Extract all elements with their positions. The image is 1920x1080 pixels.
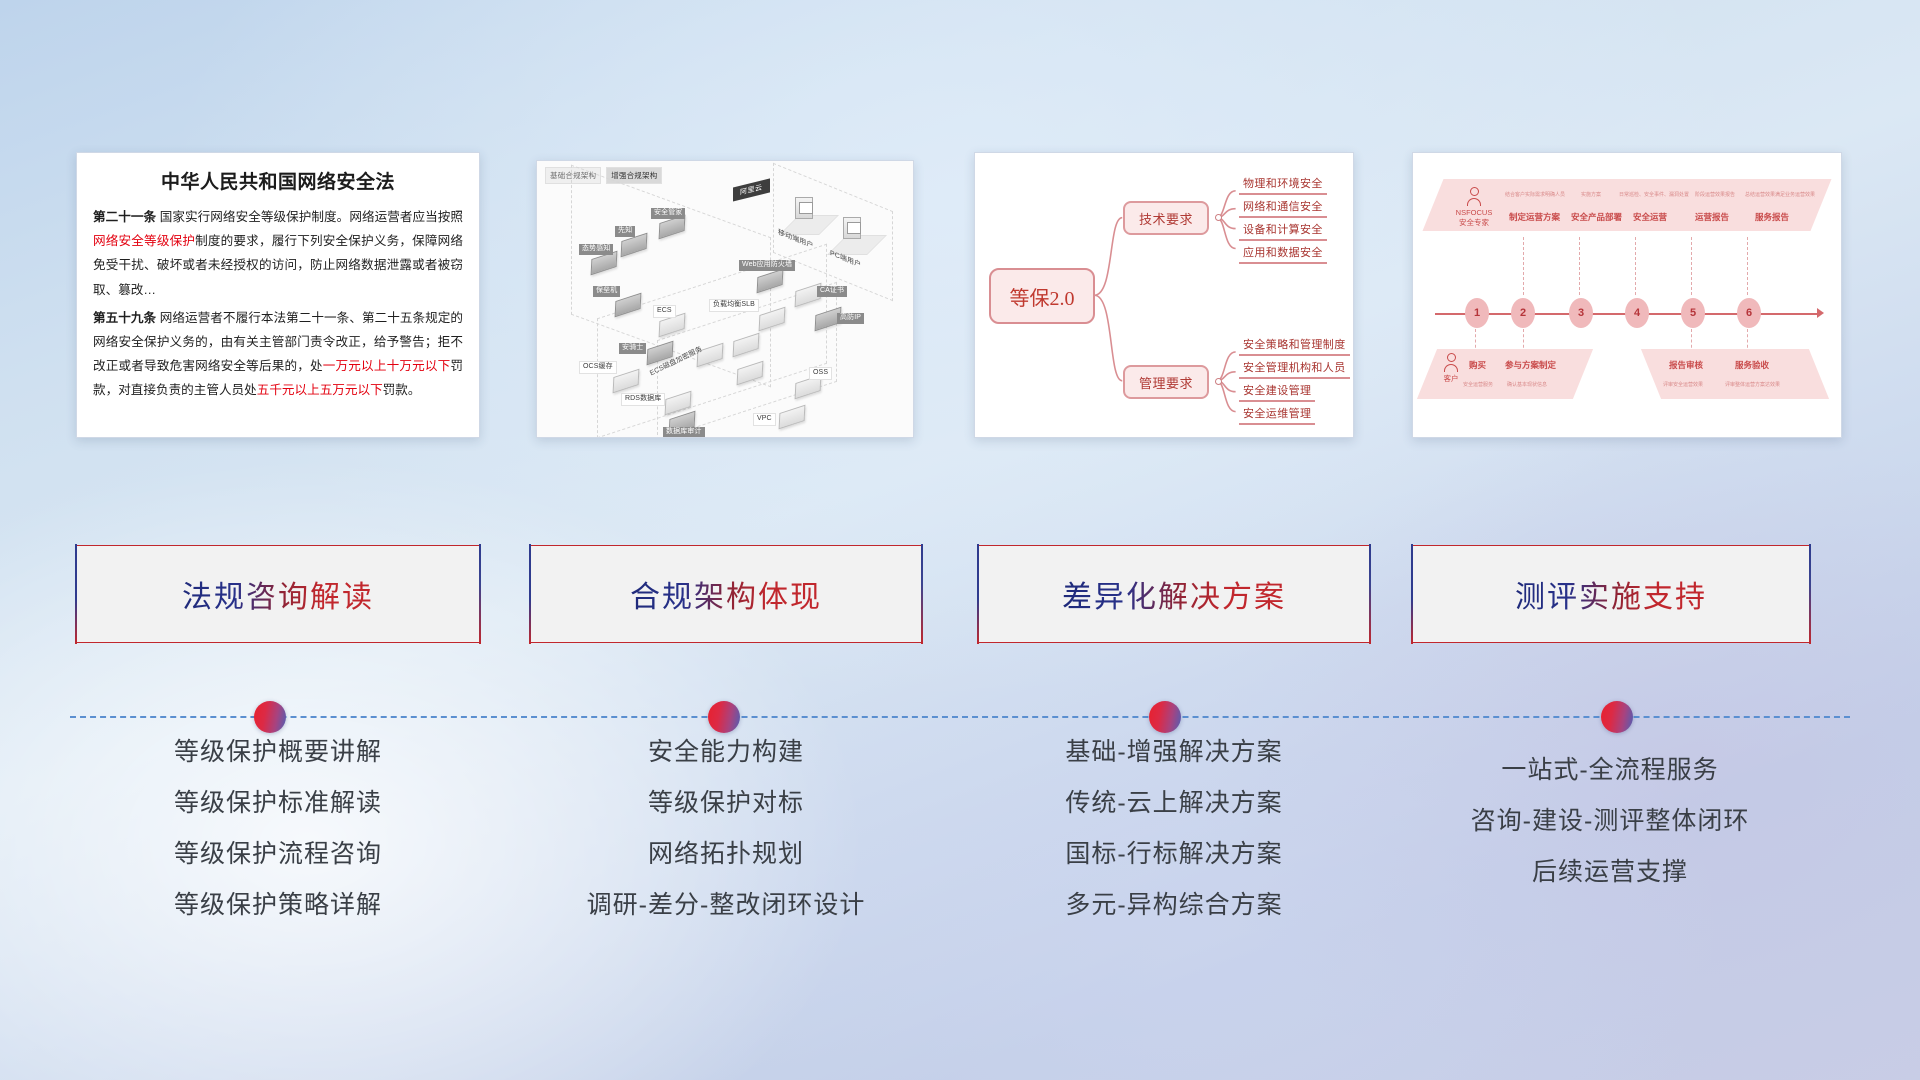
list-item: 等级保护对标 [520,791,932,816]
slide-canvas: 中华人民共和国网络安全法 第二十一条 国家实行网络安全等级保护制度。网络运营者应… [0,0,1920,1080]
feature-list-row: 等级保护概要讲解 等级保护标准解读 等级保护流程咨询 等级保护策略详解 安全能力… [0,740,1920,1000]
feature-list-column-4: 一站式-全流程服务 咨询-建设-测评整体闭环 后续运营支撑 [1400,758,1820,911]
list-item: 等级保护流程咨询 [76,842,480,867]
node-oss: OSS [795,379,821,395]
mindmap-collapse-dot-management[interactable] [1215,378,1222,385]
list-item: 安全能力构建 [520,740,932,765]
provider-stage-title: 服务报告 [1755,211,1789,223]
customer-stage-sub: 评审整体运营方案达效果 [1725,381,1780,388]
provider-stage-title: 制定运营方案 [1509,211,1560,223]
node-label: OSS [809,367,832,380]
screenshot-card-row: 中华人民共和国网络安全法 第二十一条 国家实行网络安全等级保护制度。网络运营者应… [0,150,1920,440]
node-slb: 负载均衡SLB [759,311,785,327]
node-ca-certificate: CA证书 [795,287,821,303]
node-label: 先知 [615,226,635,237]
mindmap-collapse-dot-technical[interactable] [1215,214,1222,221]
node-label: 负载均衡SLB [709,299,759,312]
list-item: 调研-差分-整改闭环设计 [520,893,932,918]
law-text-highlight: 一万元以上十万元以下 [323,359,451,373]
timeline-node-3[interactable] [1149,701,1181,733]
node-vpc: VPC [779,409,805,425]
connector-dash [1523,237,1524,295]
provider-stage-sub: 总结运营效果满足业务运营效果 [1745,191,1815,198]
node-label: 高防IP [837,313,864,324]
section-title-box-1[interactable]: 法规咨询解读 [76,545,480,643]
connector-dash [1747,237,1748,295]
law-title: 中华人民共和国网络安全法 [93,167,463,194]
provider-stage-title: 安全产品部署 [1571,211,1622,223]
mindmap-leaf: 设备和计算安全 [1239,221,1327,241]
timeline-step-marker[interactable]: 5 [1681,298,1705,328]
list-item: 网络拓扑规划 [520,842,932,867]
law-article-number: 第二十一条 [93,210,156,224]
section-title-label: 法规咨询解读 [182,572,374,616]
law-text-highlight: 网络安全等级保护 [93,234,195,248]
section-title-box-2[interactable]: 合规架构体现 [530,545,922,643]
law-paragraph-21: 第二十一条 国家实行网络安全等级保护制度。网络运营者应当按照网络安全等级保护制度… [93,205,463,302]
provider-stage-sub: 阶段运营效果报告 [1695,191,1735,198]
node-chip-icon [779,405,806,430]
mindmap-leaf: 应用和数据安全 [1239,244,1327,264]
list-item: 后续运营支撑 [1400,860,1820,885]
card-cybersecurity-law[interactable]: 中华人民共和国网络安全法 第二十一条 国家实行网络安全等级保护制度。网络运营者应… [76,152,480,438]
customer-stage-title: 报告审核 [1669,359,1703,371]
section-title-label: 测评实施支持 [1515,572,1707,616]
timeline-step-marker[interactable]: 3 [1569,298,1593,328]
mindmap-leaf: 安全运维管理 [1239,405,1315,425]
provider-stage-sub: 结合客户实际需求明确人员 [1505,191,1565,198]
timeline-node-4[interactable] [1601,701,1633,733]
provider-role-badge: NSFOCUS 安全专家 [1451,187,1497,228]
provider-role-label: 安全专家 [1451,218,1497,228]
provider-stage-sub: 日常巡检、安全事件、漏洞处置 [1619,191,1689,198]
timeline-step-marker[interactable]: 4 [1625,298,1649,328]
person-head-icon [1447,353,1456,362]
pc-device-icon [843,217,861,239]
list-item: 咨询-建设-测评整体闭环 [1400,809,1820,834]
timeline-step-marker[interactable]: 6 [1737,298,1761,328]
person-body-icon [1444,364,1458,372]
provider-brand: NSFOCUS [1451,208,1497,218]
mindmap-leaf: 安全建设管理 [1239,382,1315,402]
node-rds-database: RDS数据库 [665,395,691,411]
connector-dash [1691,237,1692,295]
mindmap-leaf: 安全管理机构和人员 [1239,359,1350,379]
node-xianzhi: 先知 [621,237,647,253]
section-title-box-4[interactable]: 测评实施支持 [1412,545,1810,643]
person-head-icon [1470,187,1479,196]
law-article-number: 第五十九条 [93,311,156,325]
node-label: ECS [653,305,676,318]
provider-stage-title: 运营报告 [1695,211,1729,223]
list-item: 国标-行标解决方案 [968,842,1380,867]
mindmap-leaf: 安全策略和管理制度 [1239,336,1350,356]
feature-list-column-2: 安全能力构建 等级保护对标 网络拓扑规划 调研-差分-整改闭环设计 [520,740,932,944]
node-label: OCS缓存 [579,361,617,374]
list-item: 多元-异构综合方案 [968,893,1380,918]
progress-timeline [0,697,1920,737]
mindmap-leaf: 网络和通信安全 [1239,198,1327,218]
customer-stage-title: 服务验收 [1735,359,1769,371]
list-item: 传统-云上解决方案 [968,791,1380,816]
section-title-row: 法规咨询解读 合规架构体现 差异化解决方案 测评实施支持 [0,545,1920,645]
customer-stage-sub: 评审安全运营效果 [1663,381,1703,388]
mindmap-branch-management: 管理要求 [1123,365,1209,399]
node-label: Web应用防火墙 [739,260,795,271]
customer-role-badge: 客户 [1431,353,1471,384]
feature-list-column-1: 等级保护概要讲解 等级保护标准解读 等级保护流程咨询 等级保护策略详解 [76,740,480,944]
node-waf: Web应用防火墙 [757,273,783,289]
timeline-arrow-icon [1817,308,1824,318]
section-title-label: 差异化解决方案 [1062,572,1286,616]
node-label: CA证书 [817,286,847,297]
customer-stage-title: 参与方案制定 [1505,359,1556,371]
timeline-node-1[interactable] [254,701,286,733]
law-text-plain: 罚款。 [383,383,421,397]
customer-stage-sub: 安全运营服务 [1463,381,1493,388]
list-item: 等级保护概要讲解 [76,740,480,765]
customer-band-right [1641,349,1829,399]
section-title-box-3[interactable]: 差异化解决方案 [978,545,1370,643]
law-paragraph-59: 第五十九条 网络运营者不履行本法第二十一条、第二十五条规定的网络安全保护义务的，… [93,306,463,403]
node-anti-ddos-ip: 高防IP [815,311,841,327]
list-item: 等级保护标准解读 [76,791,480,816]
connector-dash [1635,237,1636,295]
architecture-canvas: 阿里云 移动端用户 PC端用户 态势感知 [537,161,913,437]
node-label: 保垒机 [593,286,620,297]
provider-stage-sub: 实施方案 [1581,191,1601,198]
node-label: 数据库审计 [663,427,705,438]
timeline-node-2[interactable] [708,701,740,733]
node-label: 安骑士 [619,343,646,354]
node-compute-extra-2 [733,337,759,353]
timeline-step-marker[interactable]: 1 [1465,298,1489,328]
node-database-audit: 数据库审计 [669,415,695,431]
mindmap-branch-technical: 技术要求 [1123,201,1209,235]
timeline-dashed-line [70,716,1850,718]
node-ocs-cache: OCS缓存 [613,373,639,389]
section-title-label: 合规架构体现 [630,572,822,616]
cloud-provider-banner: 阿里云 [733,178,770,201]
node-security-butler: 安全管家 [659,219,685,235]
mobile-device-icon [795,197,813,219]
list-item: 基础-增强解决方案 [968,740,1380,765]
card-compliance-architecture[interactable]: 基础合规架构 增强合规架构 阿里云 移动端用户 [536,160,914,438]
mindmap-root-node: 等保2.0 [989,268,1095,324]
node-label: RDS数据库 [621,393,665,406]
node-bastion-host: 保垒机 [615,297,641,313]
list-item: 等级保护策略详解 [76,893,480,918]
person-body-icon [1467,198,1481,206]
connector-dash [1579,237,1580,295]
node-label: VPC [753,413,776,426]
node-situational-awareness: 态势感知 [591,255,617,271]
list-item: 一站式-全流程服务 [1400,758,1820,783]
mindmap-leaf: 物理和环境安全 [1239,175,1327,195]
customer-stage-sub: 确认基本现状信息 [1507,381,1547,388]
node-label: 安全管家 [651,208,685,219]
provider-stage-title: 安全运营 [1633,211,1667,223]
law-text-plain: 国家实行网络安全等级保护制度。网络运营者应当按照 [156,210,463,224]
timeline-step-marker[interactable]: 2 [1511,298,1535,328]
customer-stage-title: 购买 [1469,359,1486,371]
law-text-highlight: 五千元以上五万元以下 [257,383,383,397]
card-nsfocus-service-timeline[interactable]: NSFOCUS 安全专家 结合客户实际需求明确人员 制定运营方案 实施方案 安全… [1412,152,1842,438]
node-label: 态势感知 [579,244,613,255]
node-compute-extra-3 [737,365,763,381]
card-dengbao-mindmap[interactable]: 等保2.0 技术要求 物理和环境安全 网络和通信安全 设备和计算安全 应用和数据… [974,152,1354,438]
node-ecs: ECS [659,317,685,333]
feature-list-column-3: 基础-增强解决方案 传统-云上解决方案 国标-行标解决方案 多元-异构综合方案 [968,740,1380,944]
